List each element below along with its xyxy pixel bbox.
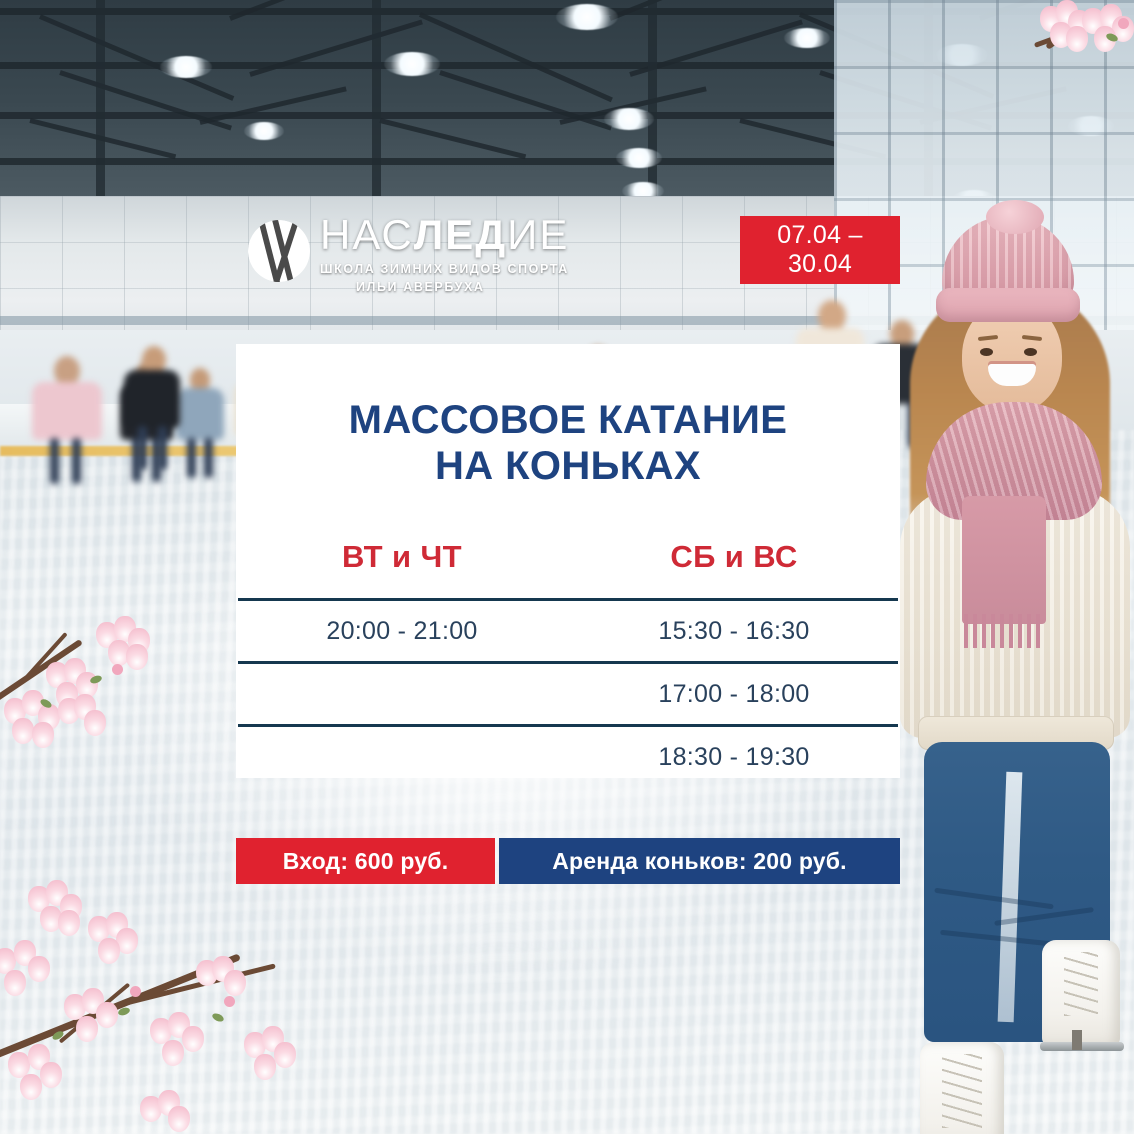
background-skater [116,346,188,474]
heritage-circle-monogram-icon [246,218,312,284]
ceiling-light-icon [244,122,284,140]
ceiling-light-icon [556,4,618,30]
brand-name: НАСЛЕДИЕ [320,214,569,256]
schedule-card: МАССОВОЕ КАТАНИЕ НА КОНЬКАХ ВТ и ЧТ СБ и… [236,344,900,778]
brand-subtitle-line2: ИЛЬИ АВЕРБУХА [356,280,485,294]
time-slot-weekend: 15:30 - 16:30 [568,617,900,646]
ceiling-light-icon [616,148,662,168]
brand-name-part1: НАС [320,211,414,258]
ice-skate-icon [920,1042,1004,1134]
date-range-badge: 07.04 – 30.04 [740,216,900,284]
date-range-line1: 07.04 – [777,221,863,251]
ceiling-light-icon [384,52,440,76]
brand-name-part3: ИЕ [507,211,569,258]
day-header-weekday: ВТ и ЧТ [236,539,568,589]
girl-ice-skater [890,196,1134,1134]
table-row: 17:00 - 18:00 [236,664,900,724]
brand-logo[interactable]: НАСЛЕДИЕ ШКОЛА ЗИМНИХ ВИДОВ СПОРТА ИЛЬИ … [246,216,566,294]
ceiling-light-icon [784,28,830,48]
page-title-line2: НА КОНЬКАХ [236,443,900,489]
time-slot-weekend: 17:00 - 18:00 [568,680,900,709]
schedule-table: 20:00 - 21:00 15:30 - 16:30 17:00 - 18:0… [236,598,900,787]
brand-subtitle-line1: ШКОЛА ЗИМНИХ ВИДОВ СПОРТА [320,262,569,276]
day-header-weekend: СБ и ВС [568,539,900,589]
ceiling-light-icon [604,108,654,130]
brand-name-part2: ЛЕД [414,211,507,258]
entry-price-badge: Вход: 600 руб. [236,838,495,884]
table-row: 18:30 - 19:30 [236,727,900,787]
page-title-line1: МАССОВОЕ КАТАНИЕ [349,398,788,442]
rental-price-label: Аренда коньков: 200 руб. [552,848,847,875]
page-title: МАССОВОЕ КАТАНИЕ НА КОНЬКАХ [236,397,900,490]
date-range-line2: 30.04 [788,250,852,280]
rental-price-badge: Аренда коньков: 200 руб. [499,838,900,884]
ceiling-light-icon [160,56,212,78]
time-slot-weekday: 20:00 - 21:00 [236,617,568,646]
schedule-day-headers: ВТ и ЧТ СБ и ВС [236,539,900,589]
time-slot-weekend: 18:30 - 19:30 [568,743,900,772]
poster: НАСЛЕДИЕ ШКОЛА ЗИМНИХ ВИДОВ СПОРТА ИЛЬИ … [0,0,1134,1134]
background-skater [24,356,108,488]
entry-price-label: Вход: 600 руб. [283,848,449,875]
table-row: 20:00 - 21:00 15:30 - 16:30 [236,601,900,661]
